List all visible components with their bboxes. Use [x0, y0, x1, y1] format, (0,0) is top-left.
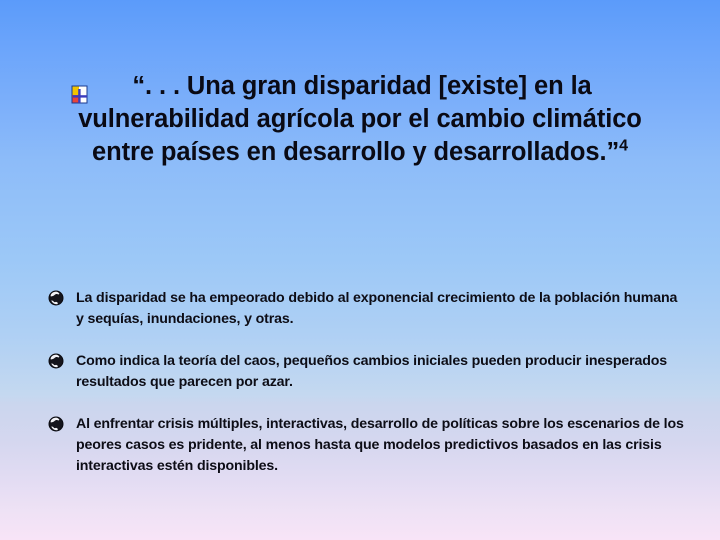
- list-item-text: Al enfrentar crisis múltiples, interacti…: [76, 414, 688, 477]
- list-item-text: Como indica la teoría del caos, pequeños…: [76, 351, 688, 393]
- slide-title: “. . . Una gran disparidad [existe] en l…: [22, 70, 698, 169]
- title-line-3: entre países en desarrollo y desarrollad…: [22, 136, 698, 169]
- title-line-2: vulnerabilidad agrícola por el cambio cl…: [22, 103, 698, 136]
- bullet-list: La disparidad se ha empeorado debido al …: [48, 288, 688, 477]
- globe-bullet-icon: [48, 290, 64, 306]
- title-line-1: “. . . Una gran disparidad [existe] en l…: [22, 70, 698, 103]
- globe-bullet-icon: [48, 353, 64, 369]
- list-item-text: La disparidad se ha empeorado debido al …: [76, 288, 688, 330]
- title-footnote-marker: 4: [619, 138, 628, 155]
- globe-bullet-icon: [48, 416, 64, 432]
- list-item: Al enfrentar crisis múltiples, interacti…: [48, 414, 688, 477]
- list-item: La disparidad se ha empeorado debido al …: [48, 288, 688, 330]
- list-item: Como indica la teoría del caos, pequeños…: [48, 351, 688, 393]
- title-line-3-text: entre países en desarrollo y desarrollad…: [92, 138, 619, 166]
- slide-canvas: “. . . Una gran disparidad [existe] en l…: [0, 0, 720, 540]
